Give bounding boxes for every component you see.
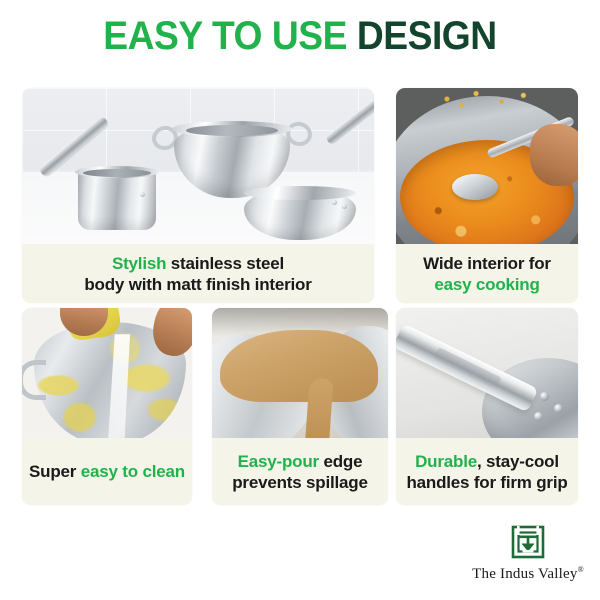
spoon-bowl	[452, 174, 498, 200]
caption-accent-word: Stylish	[112, 254, 166, 273]
caption-line-1: Wide interior for	[423, 253, 551, 274]
feature-image-easy-pour	[212, 308, 388, 438]
batter-stream	[304, 377, 333, 438]
caption-text: edge	[319, 452, 362, 471]
feature-caption-durable-handle: Durable, stay-cool handles for firm grip	[396, 438, 578, 505]
feature-caption-stylish: Stylish stainless steel body with matt f…	[22, 244, 374, 303]
caption-line-2: prevents spillage	[232, 472, 368, 493]
caption-line-1: Super easy to clean	[29, 461, 185, 482]
infographic-page: EASY TO USE DESIGN	[0, 0, 600, 600]
caption-accent-word: Easy-pour	[238, 452, 319, 471]
brand-name-text: The Indus Valley	[472, 566, 577, 582]
page-title-accent: EASY TO USE	[103, 14, 347, 58]
batter-pool	[220, 330, 378, 402]
feature-image-durable-handle	[396, 308, 578, 438]
brand-engraving	[433, 347, 502, 389]
feature-image-stylish	[22, 88, 374, 244]
page-title: EASY TO USE DESIGN	[21, 12, 579, 60]
feature-card-wide-interior: Wide interior for easy cooking	[396, 88, 578, 303]
caption-line-1: Easy-pour edge	[238, 451, 363, 472]
feature-card-easy-pour: Easy-pour edge prevents spillage	[212, 308, 388, 505]
feature-card-easy-clean: Super easy to clean	[22, 308, 192, 505]
feature-caption-easy-clean: Super easy to clean	[22, 438, 192, 505]
saucepan-illustration	[78, 170, 156, 230]
feature-card-durable-handle: Durable, stay-cool handles for firm grip	[396, 308, 578, 505]
caption-text: stainless steel	[166, 254, 284, 273]
caption-text: , stay-cool	[477, 452, 559, 471]
feature-image-wide-interior	[396, 88, 578, 244]
caption-line-2: handles for firm grip	[406, 472, 567, 493]
brand-name: The Indus Valley®	[466, 565, 590, 583]
feature-caption-wide-interior: Wide interior for easy cooking	[396, 244, 578, 303]
page-title-emphasis: DESIGN	[357, 14, 497, 58]
hand-holding-spoon	[530, 124, 578, 186]
caption-accent-word: Durable	[415, 452, 477, 471]
indus-valley-emblem-icon	[510, 524, 546, 560]
caption-text: Super	[29, 462, 81, 481]
caption-line-2: easy cooking	[434, 274, 539, 295]
registered-mark: ®	[578, 565, 584, 574]
caption-line-1: Stylish stainless steel	[112, 253, 284, 274]
kadai-side-handle	[22, 360, 46, 400]
caption-line-2: body with matt finish interior	[84, 274, 311, 295]
brand-logo: The Indus Valley®	[466, 524, 590, 583]
frypan-illustration	[244, 188, 356, 240]
caption-line-1: Durable, stay-cool	[415, 451, 559, 472]
caption-accent-word: easy to clean	[81, 462, 185, 481]
feature-image-easy-clean	[22, 308, 192, 438]
feature-caption-easy-pour: Easy-pour edge prevents spillage	[212, 438, 388, 505]
feature-card-stylish: Stylish stainless steel body with matt f…	[22, 88, 374, 303]
